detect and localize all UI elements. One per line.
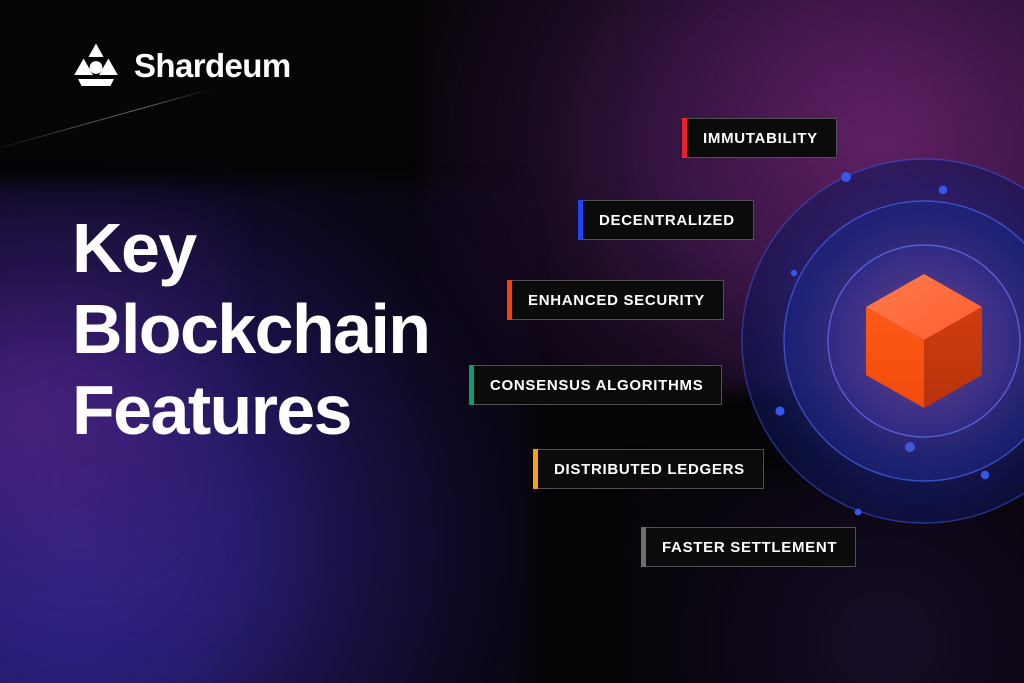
orbit-dot [791, 270, 797, 276]
badge-label: FASTER SETTLEMENT [662, 540, 837, 555]
badge-body: CONSENSUS ALGORITHMS [474, 365, 722, 405]
orbit-dot [775, 406, 784, 415]
feature-badge-faster-settlement[interactable]: FASTER SETTLEMENT [641, 527, 856, 567]
orange-3d-cube-icon [863, 272, 985, 410]
orbit-dot [841, 172, 851, 182]
badge-body: IMMUTABILITY [687, 118, 837, 158]
feature-badge-consensus-algorithms[interactable]: CONSENSUS ALGORITHMS [469, 365, 722, 405]
badge-label: IMMUTABILITY [703, 131, 818, 146]
feature-badge-enhanced-security[interactable]: ENHANCED SECURITY [507, 280, 724, 320]
badge-body: FASTER SETTLEMENT [646, 527, 856, 567]
orbit-dot [855, 509, 862, 516]
promo-graphic-canvas: Shardeum Key Blockchain Features IMMUTAB… [0, 0, 1024, 683]
badge-label: DECENTRALIZED [599, 213, 735, 228]
badge-label: DISTRIBUTED LEDGERS [554, 462, 745, 477]
badge-body: DISTRIBUTED LEDGERS [538, 449, 764, 489]
badge-body: DECENTRALIZED [583, 200, 754, 240]
badge-body: ENHANCED SECURITY [512, 280, 724, 320]
orbit-dot [905, 442, 915, 452]
feature-badge-decentralized[interactable]: DECENTRALIZED [578, 200, 754, 240]
orbit-dot [939, 186, 947, 194]
badge-label: CONSENSUS ALGORITHMS [490, 378, 703, 393]
feature-badge-distributed-ledgers[interactable]: DISTRIBUTED LEDGERS [533, 449, 764, 489]
orbit-dot [981, 471, 989, 479]
blockchain-orbit-graphic [738, 155, 1024, 527]
badge-label: ENHANCED SECURITY [528, 293, 705, 308]
feature-badge-immutability[interactable]: IMMUTABILITY [682, 118, 837, 158]
